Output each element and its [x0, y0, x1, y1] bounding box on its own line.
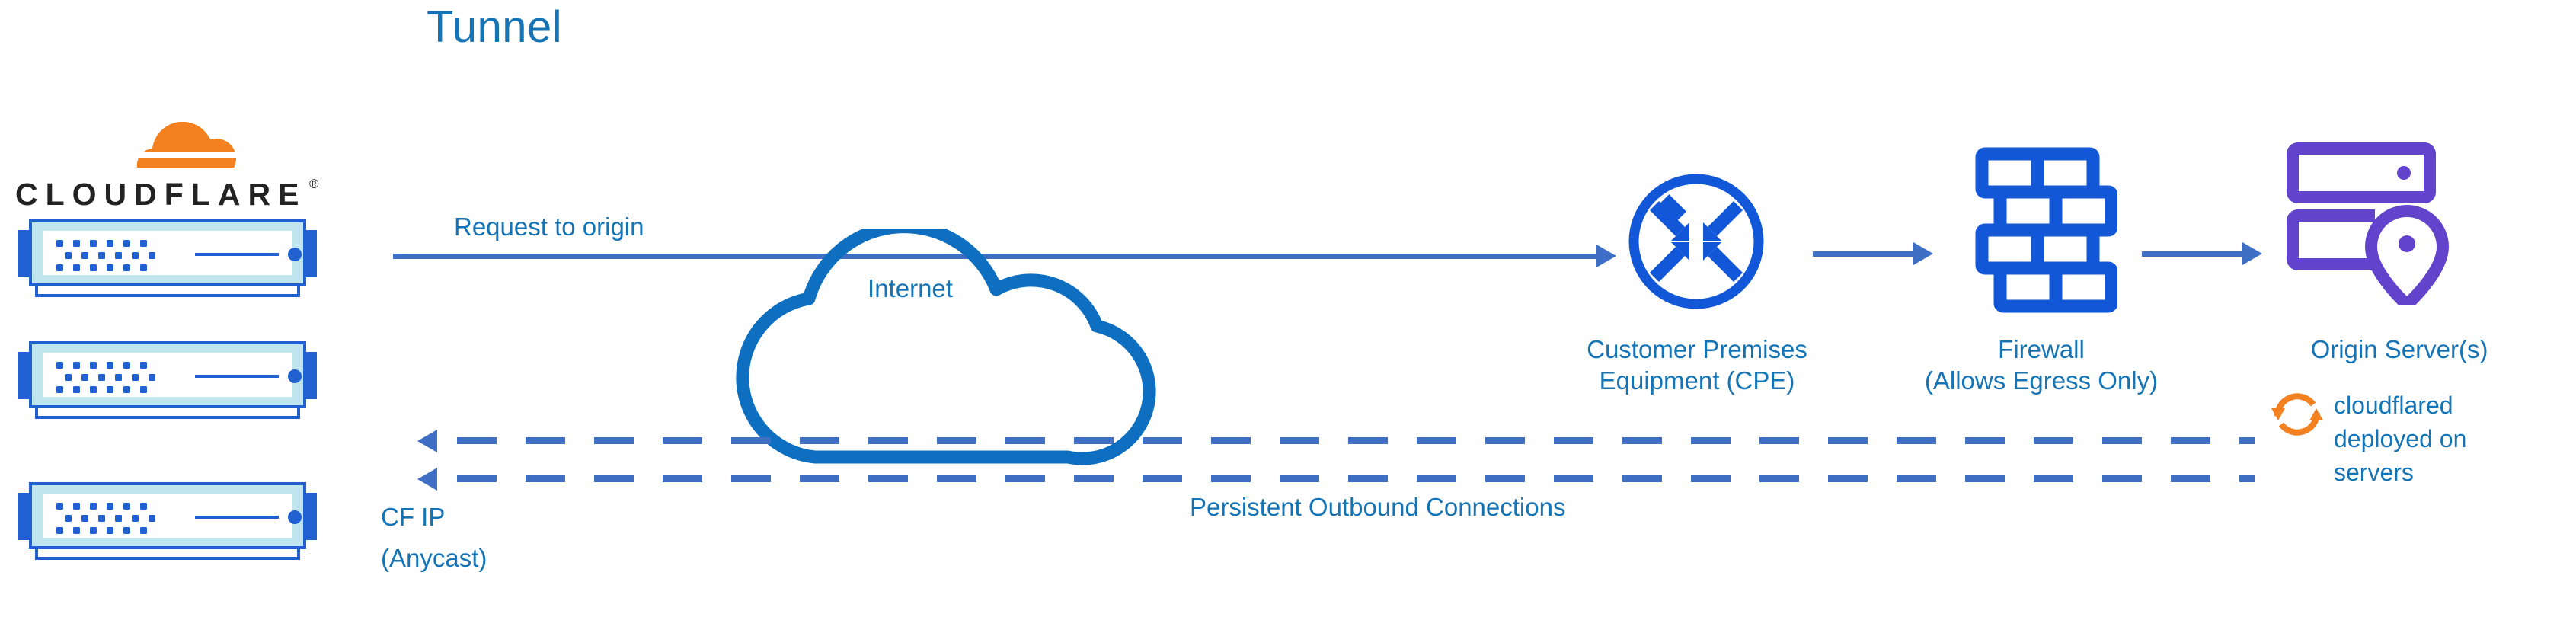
request-arrow-head-icon: [1596, 245, 1616, 267]
server-rack-2: [8, 335, 328, 425]
rack-face: [43, 494, 292, 538]
cloudflared-line-1: cloudflared: [2334, 388, 2466, 422]
persistent-outbound-connections-label: Persistent Outbound Connections: [1190, 491, 1565, 523]
outbound-dashed-line-1: [457, 437, 2255, 444]
rack-body: [29, 341, 306, 408]
cloud-outline-icon: [708, 229, 1181, 472]
cpe-node: [1624, 169, 1769, 318]
cpe-to-firewall-arrow-head-icon: [1913, 242, 1933, 265]
firewall-label-line2: (Allows Egress Only): [1897, 365, 2186, 396]
rack-body: [29, 482, 306, 549]
cloudflare-wordmark: CLOUDFLARE: [15, 177, 306, 213]
origin-server-node: [2285, 141, 2468, 308]
rack-indicator-line: [195, 253, 279, 256]
converging-arrows-circle-icon: [1624, 169, 1769, 314]
rack-status-led: [288, 510, 302, 524]
internet-label: Internet: [788, 274, 1032, 303]
rack-face: [43, 231, 292, 275]
brick-wall-icon: [1965, 145, 2117, 320]
cloudflared-line-3: servers: [2334, 456, 2466, 489]
cloudflared-line-2: deployed on: [2334, 422, 2466, 456]
circular-sync-arrows-icon: [2268, 385, 2326, 443]
firewall-to-origin-arrow-line: [2142, 251, 2244, 257]
page-title: Tunnel: [427, 2, 562, 53]
cpe-label-line1: Customer Premises: [1522, 334, 1872, 365]
registered-trademark-icon: ®: [309, 177, 319, 192]
rack-status-led: [288, 248, 302, 261]
rack-face: [43, 353, 292, 397]
firewall-label-line1: Firewall: [1958, 334, 2125, 365]
rack-indicator-line: [195, 516, 279, 519]
cloudflared-node: [2268, 385, 2326, 447]
outbound-dashed-line-2: [457, 475, 2255, 482]
cloudflare-logo: CLOUDFLARE ®: [15, 107, 335, 206]
cpe-label-line2: Equipment (CPE): [1522, 365, 1872, 396]
rack-body: [29, 219, 306, 286]
outbound-arrow-head-1-icon: [417, 430, 437, 452]
rack-vent-dots-icon: [56, 240, 155, 272]
request-to-origin-label: Request to origin: [454, 211, 644, 243]
firewall-to-origin-arrow-head-icon: [2242, 242, 2262, 265]
rack-indicator-line: [195, 375, 279, 378]
outbound-arrow-head-2-icon: [417, 468, 437, 491]
server-rack-1: [8, 213, 328, 303]
cf-ip-label-line1: CF IP: [381, 501, 445, 533]
server-rack-3: [8, 476, 328, 566]
cloudflared-caption: cloudflared deployed on servers: [2334, 388, 2466, 489]
cloudflare-cloud-logo-icon: [105, 105, 257, 175]
rack-vent-dots-icon: [56, 503, 155, 535]
server-location-pin-icon: [2285, 141, 2468, 305]
tunnel-diagram-canvas: Tunnel CLOUDFLARE ®: [0, 0, 2576, 617]
rack-vent-dots-icon: [56, 362, 155, 394]
origin-server-label: Origin Server(s): [2274, 334, 2525, 365]
cpe-to-firewall-arrow-line: [1813, 251, 1915, 257]
cf-ip-label-line2: (Anycast): [381, 542, 487, 574]
rack-status-led: [288, 369, 302, 383]
firewall-node: [1965, 145, 2117, 324]
